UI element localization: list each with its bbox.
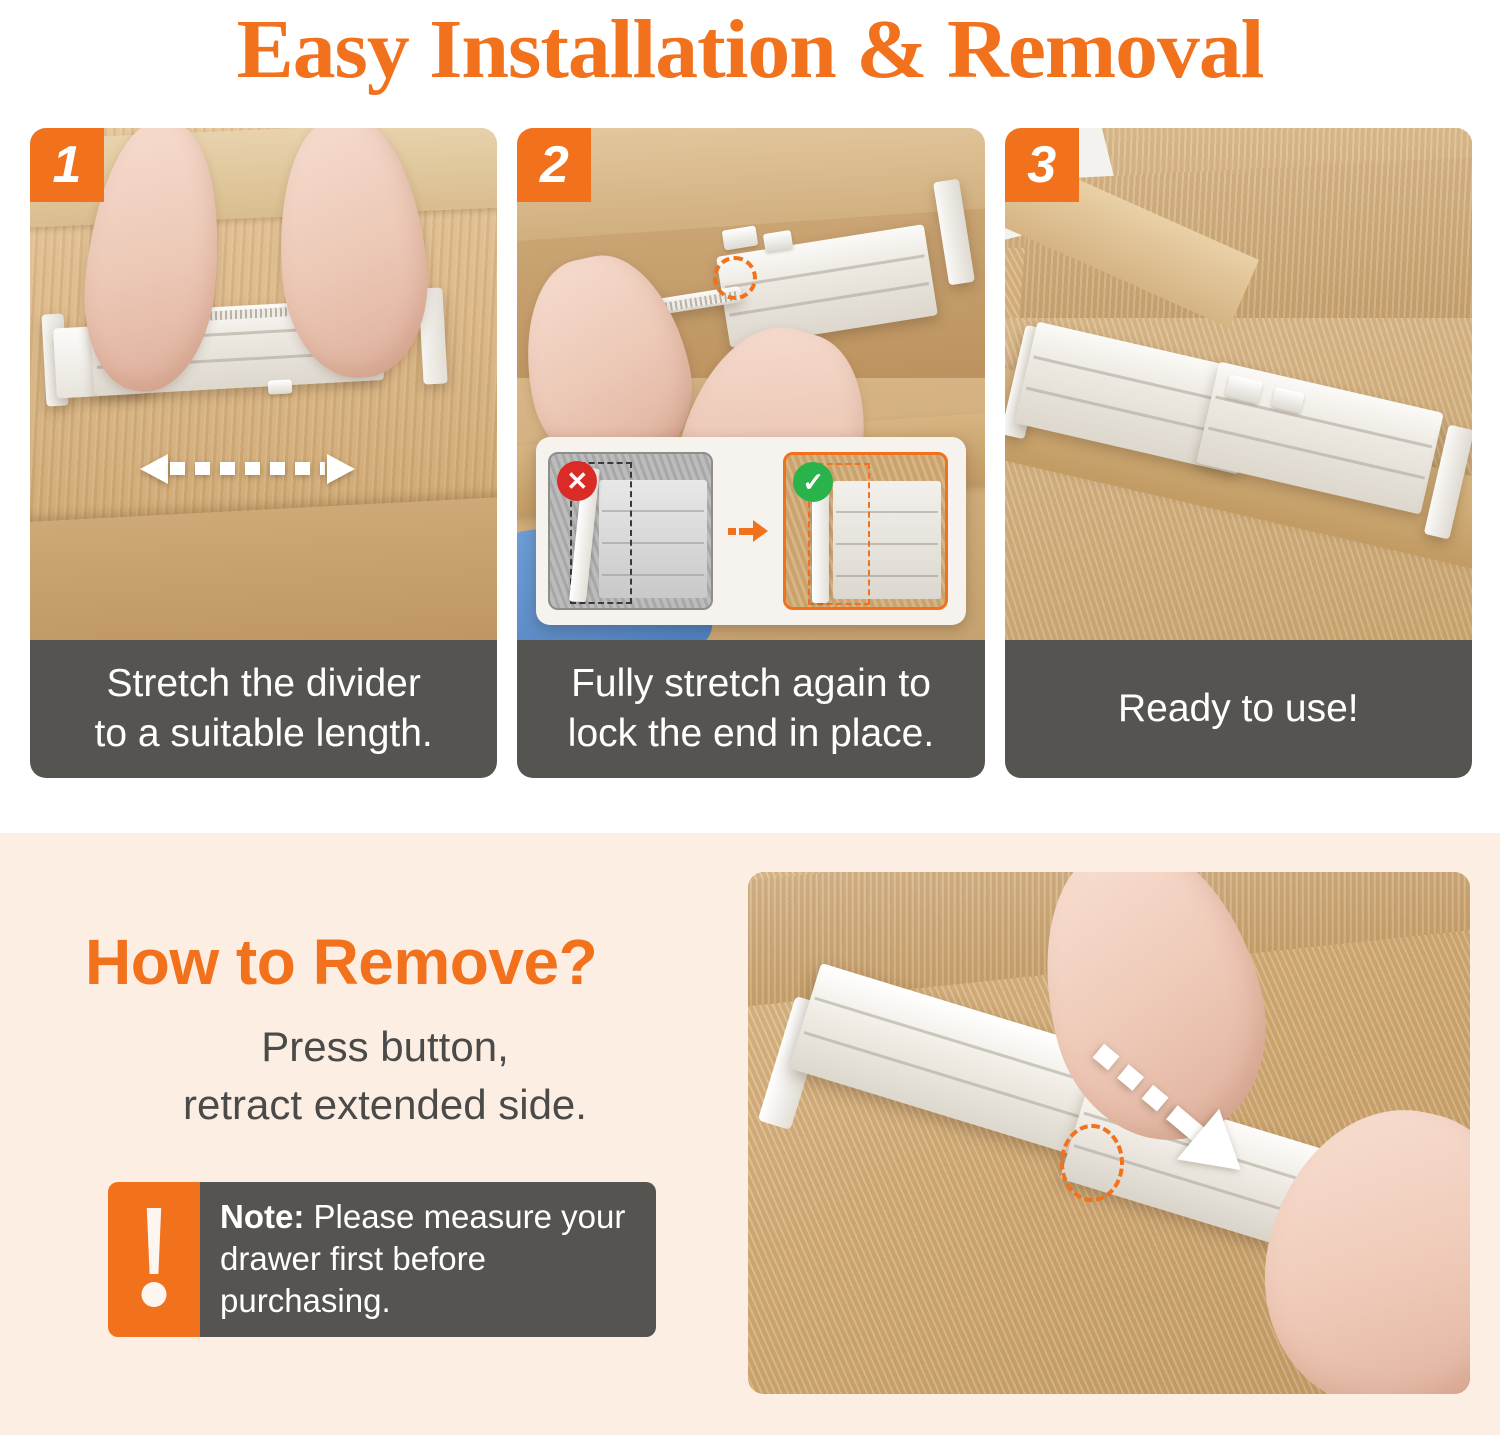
step-caption-3: Ready to use! xyxy=(1005,640,1472,778)
arrow-tip xyxy=(753,520,768,542)
divider-groove xyxy=(729,282,929,317)
note-label: Note: xyxy=(220,1198,304,1235)
step-2-photo: ✕ ✓ xyxy=(517,128,984,640)
step-1-photo xyxy=(30,128,497,640)
double-headed-arrow-icon xyxy=(140,446,355,492)
page-title: Easy Installation & Removal xyxy=(0,2,1500,98)
step-caption-1: Stretch the divider to a suitable length… xyxy=(30,640,497,778)
exclamation-icon xyxy=(108,1182,200,1337)
arrow-right-icon xyxy=(721,518,775,544)
remove-section-title: How to Remove? xyxy=(85,925,685,999)
step-badge-1: 1 xyxy=(30,128,104,202)
note-text: Note: Please measure your drawer first b… xyxy=(200,1182,656,1337)
divider-groove xyxy=(1215,395,1432,448)
steps-row: 1 Stretch the divider to a suitable leng… xyxy=(30,128,1472,778)
arrow-dash xyxy=(728,528,736,535)
remove-photo xyxy=(748,872,1470,1394)
divider-groove xyxy=(1208,427,1425,480)
drawer-wall-front xyxy=(30,492,497,640)
arrow-dashes xyxy=(170,462,325,475)
step-3-photo xyxy=(1005,128,1472,640)
step-badge-2: 2 xyxy=(517,128,591,202)
step-badge-3: 3 xyxy=(1005,128,1079,202)
drawer-scene xyxy=(1005,128,1472,640)
note-box: Note: Please measure your drawer first b… xyxy=(108,1182,656,1337)
exclamation-bar xyxy=(144,1208,164,1274)
arrow-shaft xyxy=(739,528,753,535)
drawer-scene xyxy=(30,128,497,640)
arrow-head-right xyxy=(327,454,355,484)
fit-comparison-card: ✕ ✓ xyxy=(536,437,966,625)
incorrect-fit-image: ✕ xyxy=(548,452,713,610)
arrow-head-left xyxy=(140,454,168,484)
infographic-page: Easy Installation & Removal xyxy=(0,0,1500,1435)
dashed-circle-highlight-icon xyxy=(713,256,757,300)
divider-clip xyxy=(268,379,293,394)
step-caption-2: Fully stretch again to lock the end in p… xyxy=(517,640,984,778)
exclamation-dot xyxy=(142,1282,167,1307)
step-card-2: ✕ ✓ xyxy=(517,128,984,778)
correct-fit-image: ✓ xyxy=(783,452,948,610)
step-card-3: 3 Ready to use! xyxy=(1005,128,1472,778)
step-card-1: 1 Stretch the divider to a suitable leng… xyxy=(30,128,497,778)
remove-section-body: Press button, retract extended side. xyxy=(85,1018,685,1134)
